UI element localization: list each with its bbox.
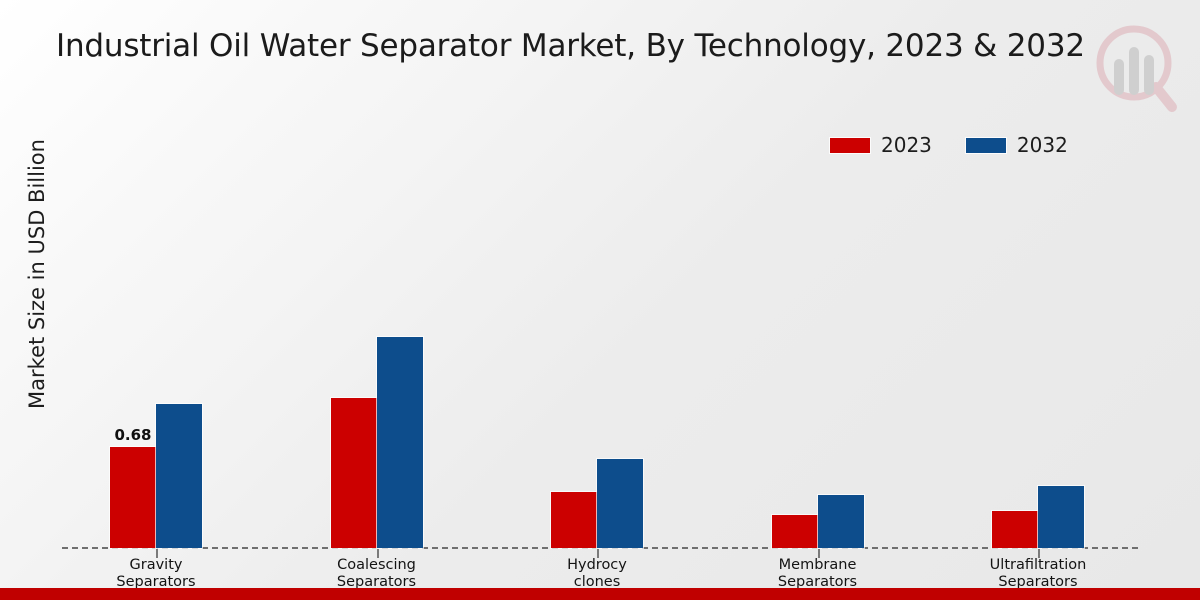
- bar-value-label: 0.68: [104, 426, 162, 444]
- bar-2032-1[interactable]: [156, 404, 202, 548]
- category-label-line: Membrane: [718, 557, 918, 574]
- x-axis-category-label: Hydrocyclones: [497, 557, 697, 591]
- x-axis-category-label: UltrafiltrationSeparators: [938, 557, 1138, 591]
- bar-2032-2[interactable]: [377, 337, 423, 548]
- bar-2023-3[interactable]: [551, 492, 597, 548]
- bar-2032-3[interactable]: [597, 459, 643, 548]
- x-axis-category-label: GravitySeparators: [56, 557, 256, 591]
- category-label-line: Hydrocy: [497, 557, 697, 574]
- category-label-line: Gravity: [56, 557, 256, 574]
- category-label-line: Coalescing: [277, 557, 477, 574]
- bar-2023-5[interactable]: [992, 511, 1038, 548]
- category-label-line: Ultrafiltration: [938, 557, 1138, 574]
- bar-2023-2[interactable]: [331, 398, 377, 548]
- x-axis-category-label: MembraneSeparators: [718, 557, 918, 591]
- plot-area: 0.68 GravitySeparatorsCoalescingSeparato…: [0, 0, 1200, 600]
- bar-2032-5[interactable]: [1038, 486, 1084, 548]
- bar-2023-1[interactable]: [110, 447, 156, 548]
- bar-2032-4[interactable]: [818, 495, 864, 548]
- x-axis-category-label: CoalescingSeparators: [277, 557, 477, 591]
- bottom-accent-band: [0, 588, 1200, 600]
- chart-container: Industrial Oil Water Separator Market, B…: [0, 0, 1200, 600]
- bar-2023-4[interactable]: [772, 515, 818, 548]
